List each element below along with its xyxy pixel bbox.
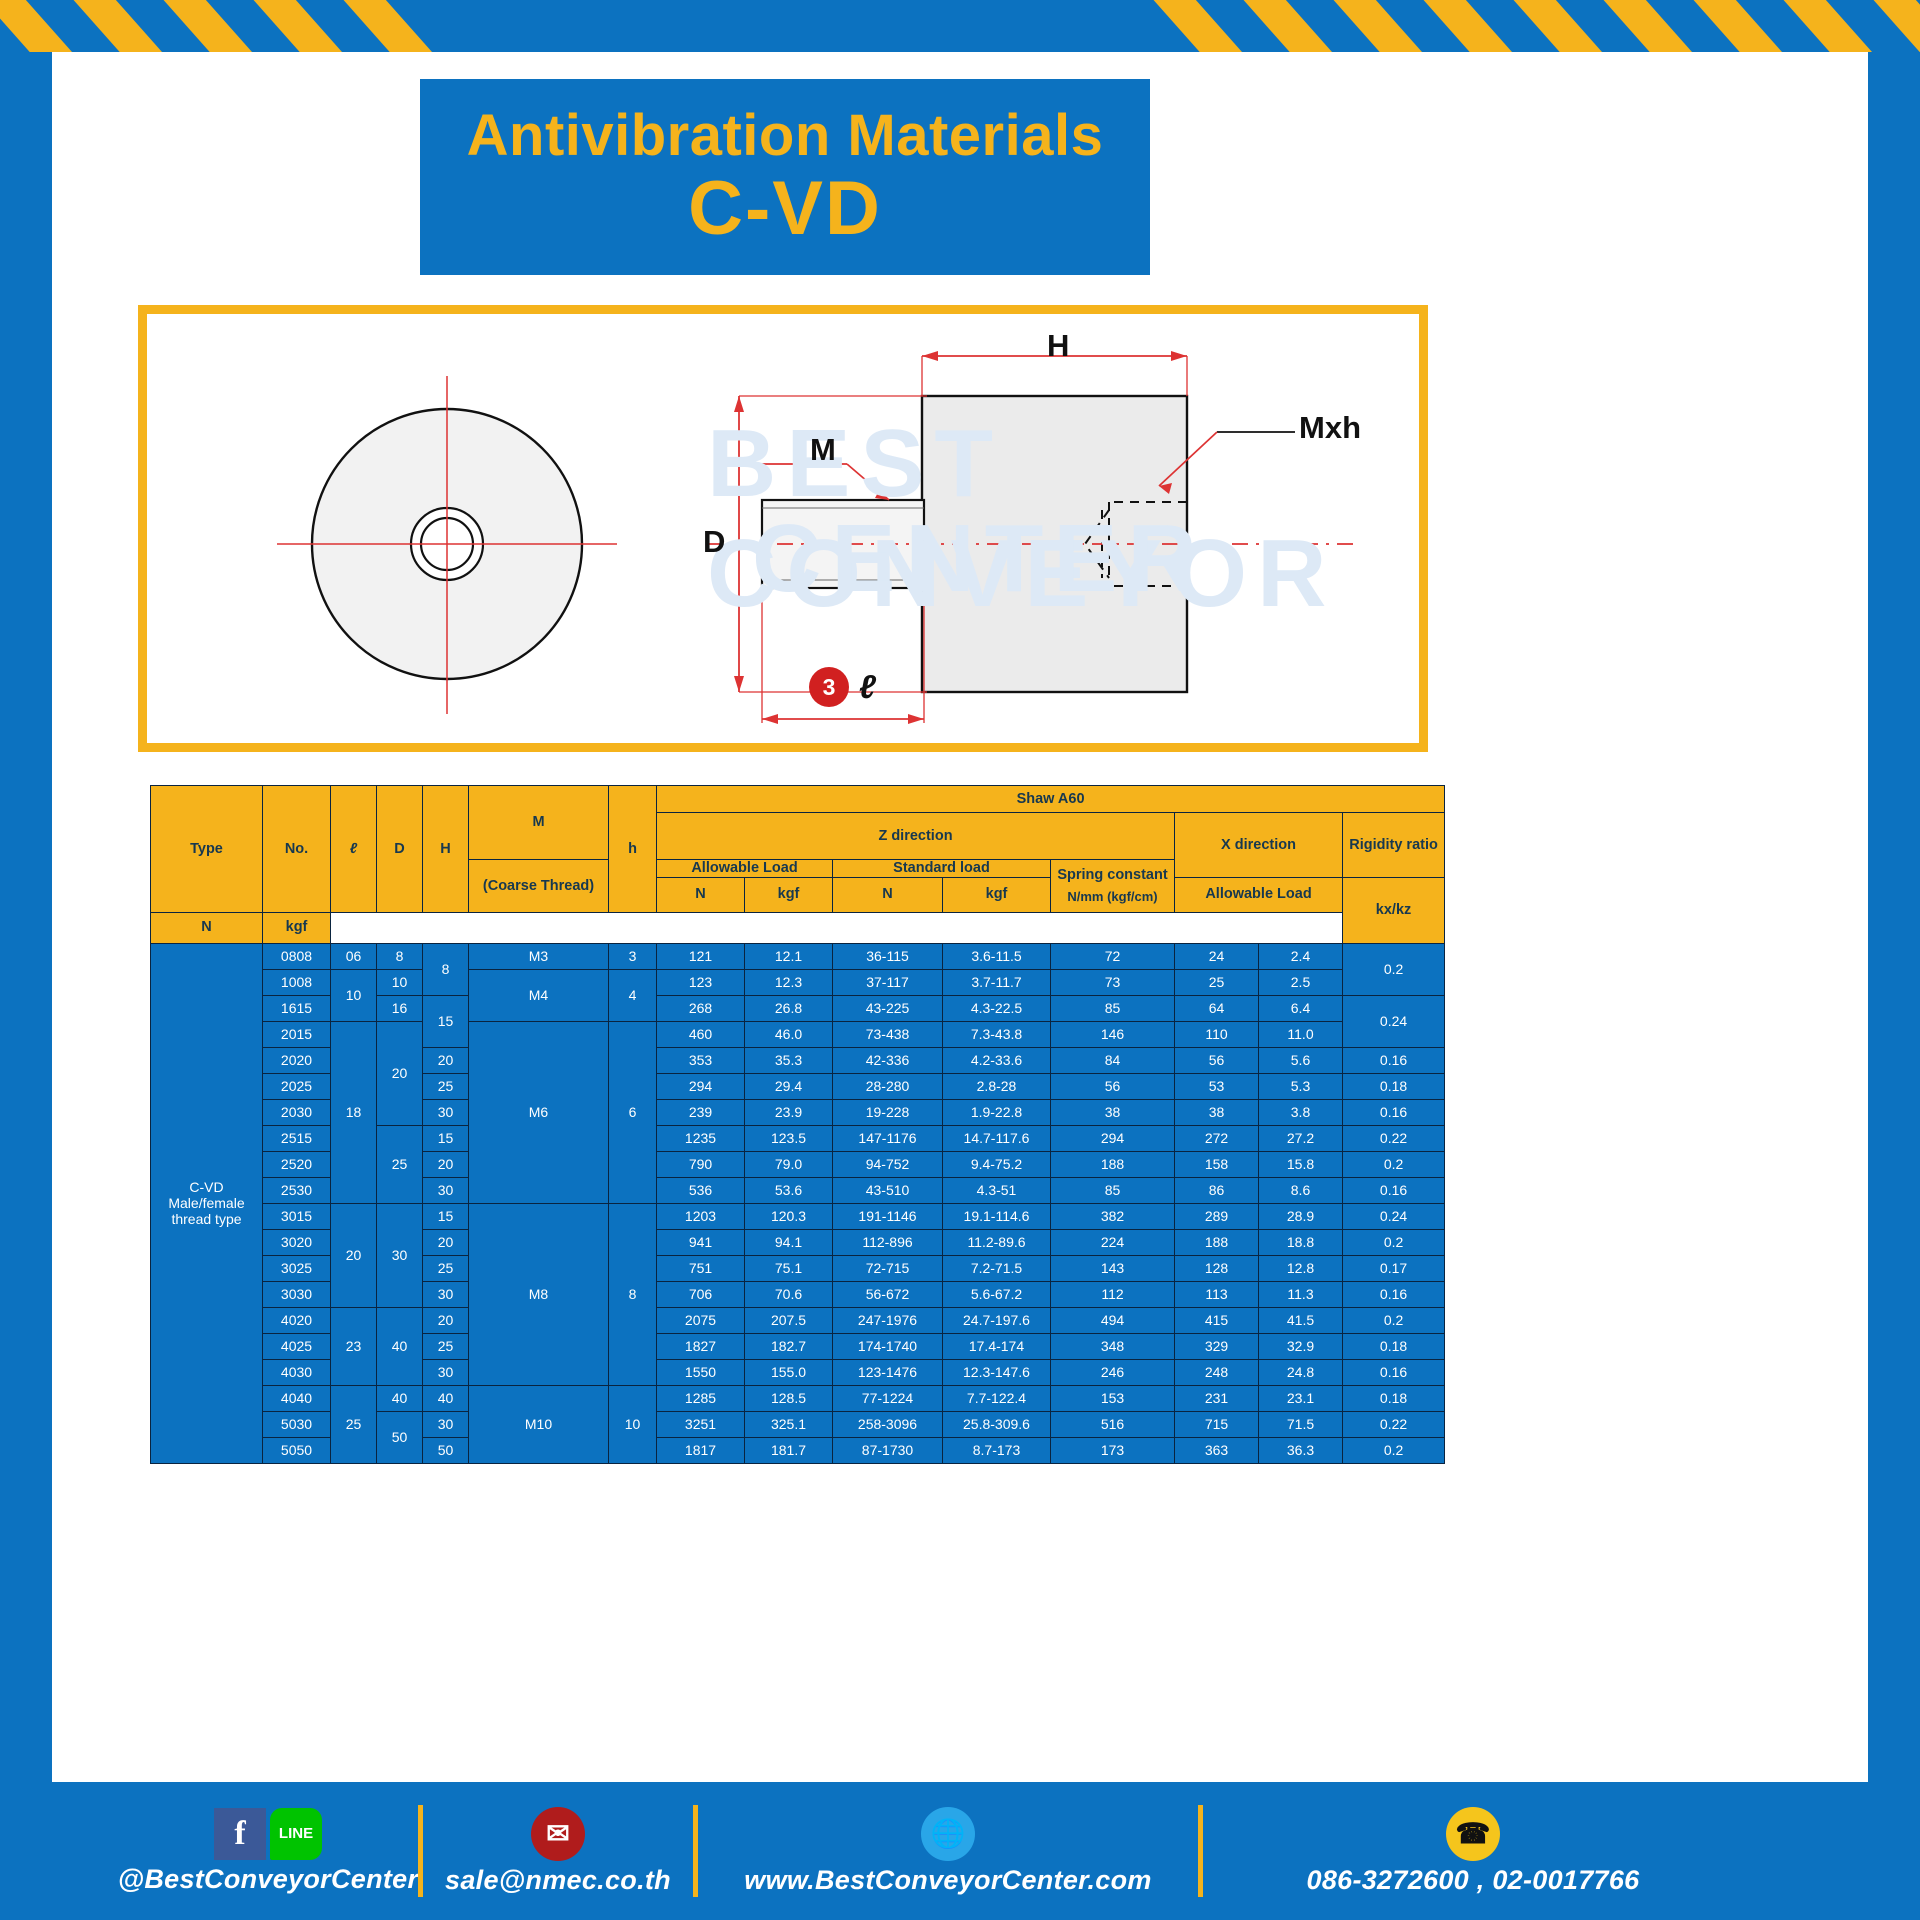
cell-spring-constant: 348 — [1051, 1333, 1175, 1359]
cell-z-allow-kgf: 120.3 — [745, 1203, 833, 1229]
cell-x-allow-kgf: 2.4 — [1259, 943, 1343, 969]
th-x-allowable-load: Allowable Load — [1175, 877, 1343, 912]
th-spring-unit: N/mm (kgf/cm) — [1051, 890, 1174, 905]
chevron-3 — [250, 0, 342, 52]
cell-H: 50 — [423, 1437, 469, 1463]
cell-H: 15 — [423, 995, 469, 1047]
cell-H: 25 — [423, 1333, 469, 1359]
cell-H: 20 — [423, 1047, 469, 1073]
cell-x-allow-N: 53 — [1175, 1073, 1259, 1099]
cell-M: M10 — [469, 1385, 609, 1463]
cell-spring-constant: 85 — [1051, 1177, 1175, 1203]
cell-spring-constant: 224 — [1051, 1229, 1175, 1255]
cell-H: 30 — [423, 1281, 469, 1307]
th-type: Type — [151, 786, 263, 913]
cell-no: 3030 — [263, 1281, 331, 1307]
cell-x-allow-kgf: 27.2 — [1259, 1125, 1343, 1151]
cell-no: 4040 — [263, 1385, 331, 1411]
th-shaw-a60: Shaw A60 — [657, 786, 1445, 813]
cell-z-std-kgf: 17.4-174 — [943, 1333, 1051, 1359]
th-H: H — [423, 786, 469, 913]
cell-x-allow-N: 64 — [1175, 995, 1259, 1021]
cell-H: 30 — [423, 1099, 469, 1125]
header-row-5: N kgf — [151, 912, 1445, 943]
cell-no: 3025 — [263, 1255, 331, 1281]
cell-z-std-N: 42-336 — [833, 1047, 943, 1073]
table-row: 10081010M4412312.337-1173.7-11.773252.5 — [151, 969, 1445, 995]
cell-x-allow-kgf: 32.9 — [1259, 1333, 1343, 1359]
chevron-6 — [1240, 0, 1332, 52]
globe-icon[interactable]: 🌐 — [921, 1807, 975, 1861]
line-icon[interactable]: LINE — [270, 1808, 322, 1860]
th-x-N: N — [151, 912, 263, 943]
cell-z-allow-N: 353 — [657, 1047, 745, 1073]
th-rigidity-ratio: Rigidity ratio — [1343, 813, 1445, 878]
cell-x-allow-N: 113 — [1175, 1281, 1259, 1307]
cell-M: M6 — [469, 1021, 609, 1203]
cell-rigidity-ratio: 0.16 — [1343, 1099, 1445, 1125]
cell-h: 6 — [609, 1021, 657, 1203]
cell-z-std-kgf: 25.8-309.6 — [943, 1411, 1051, 1437]
cell-spring-constant: 84 — [1051, 1047, 1175, 1073]
th-x-kgf: kgf — [263, 912, 331, 943]
cell-spring-constant: 143 — [1051, 1255, 1175, 1281]
cell-l: 06 — [331, 943, 377, 969]
cell-no: 2025 — [263, 1073, 331, 1099]
cell-x-allow-N: 56 — [1175, 1047, 1259, 1073]
cell-H: 20 — [423, 1151, 469, 1177]
cell-no: 0808 — [263, 943, 331, 969]
cell-z-std-kgf: 4.3-22.5 — [943, 995, 1051, 1021]
cell-D: 25 — [377, 1125, 423, 1203]
cell-z-allow-N: 3251 — [657, 1411, 745, 1437]
cell-z-std-kgf: 19.1-114.6 — [943, 1203, 1051, 1229]
dim-arrow-H-right — [1171, 351, 1187, 361]
cell-x-allow-kgf: 36.3 — [1259, 1437, 1343, 1463]
cell-z-std-N: 28-280 — [833, 1073, 943, 1099]
chevron-10 — [1600, 0, 1692, 52]
table-row: 40202340202075207.5247-197624.7-197.6494… — [151, 1307, 1445, 1333]
cell-z-std-N: 43-225 — [833, 995, 943, 1021]
cell-z-allow-kgf: 79.0 — [745, 1151, 833, 1177]
cell-rigidity-ratio: 0.18 — [1343, 1333, 1445, 1359]
cell-z-std-N: 258-3096 — [833, 1411, 943, 1437]
cell-z-std-kgf: 14.7-117.6 — [943, 1125, 1051, 1151]
cell-D: 20 — [377, 1021, 423, 1125]
dim-arrow-H-left — [922, 351, 938, 361]
cell-spring-constant: 153 — [1051, 1385, 1175, 1411]
type-line: thread type — [151, 1211, 262, 1227]
cell-no: 2530 — [263, 1177, 331, 1203]
chevron-4 — [340, 0, 432, 52]
cell-x-allow-kgf: 28.9 — [1259, 1203, 1343, 1229]
th-x-direction: X direction — [1175, 813, 1343, 878]
spec-table-head: Type No. ℓ D H M h Shaw A60 Z direction … — [151, 786, 1445, 944]
cell-z-std-N: 191-1146 — [833, 1203, 943, 1229]
cell-z-std-kgf: 9.4-75.2 — [943, 1151, 1051, 1177]
cell-l: 10 — [331, 969, 377, 1021]
cell-spring-constant: 173 — [1051, 1437, 1175, 1463]
cell-spring-constant: 382 — [1051, 1203, 1175, 1229]
cell-z-allow-N: 123 — [657, 969, 745, 995]
cell-no: 2520 — [263, 1151, 331, 1177]
cell-z-std-kgf: 1.9-22.8 — [943, 1099, 1051, 1125]
th-z-std-N: N — [833, 877, 943, 912]
cell-z-allow-kgf: 181.7 — [745, 1437, 833, 1463]
cell-rigidity-ratio: 0.22 — [1343, 1125, 1445, 1151]
top-chevron-band — [0, 0, 1920, 52]
cell-z-std-N: 73-438 — [833, 1021, 943, 1047]
cell-z-std-kgf: 24.7-197.6 — [943, 1307, 1051, 1333]
label-D: D — [703, 524, 725, 560]
cell-H: 25 — [423, 1255, 469, 1281]
cell-rigidity-ratio: 0.16 — [1343, 1359, 1445, 1385]
cell-z-std-N: 123-1476 — [833, 1359, 943, 1385]
table-row: C-VDMale/femalethread type08080688M33121… — [151, 943, 1445, 969]
cell-D: 10 — [377, 969, 423, 995]
cell-z-std-kgf: 12.3-147.6 — [943, 1359, 1051, 1385]
cell-l: 20 — [331, 1203, 377, 1307]
cell-rigidity-ratio: 0.24 — [1343, 1203, 1445, 1229]
type-line: Male/female — [151, 1195, 262, 1211]
cell-spring-constant: 146 — [1051, 1021, 1175, 1047]
cell-x-allow-kgf: 15.8 — [1259, 1151, 1343, 1177]
cell-z-allow-kgf: 155.0 — [745, 1359, 833, 1385]
cell-x-allow-N: 363 — [1175, 1437, 1259, 1463]
cell-x-allow-kgf: 24.8 — [1259, 1359, 1343, 1385]
cell-z-allow-kgf: 123.5 — [745, 1125, 833, 1151]
cell-no: 4020 — [263, 1307, 331, 1333]
cell-x-allow-kgf: 3.8 — [1259, 1099, 1343, 1125]
cell-rigidity-ratio: 0.18 — [1343, 1385, 1445, 1411]
cell-z-std-N: 147-1176 — [833, 1125, 943, 1151]
cell-H: 15 — [423, 1203, 469, 1229]
cell-x-allow-kgf: 41.5 — [1259, 1307, 1343, 1333]
chevron-5 — [1150, 0, 1242, 52]
th-z-standard-load: Standard load — [833, 860, 1051, 878]
cell-z-allow-kgf: 94.1 — [745, 1229, 833, 1255]
cell-z-std-kgf: 11.2-89.6 — [943, 1229, 1051, 1255]
cell-z-allow-N: 294 — [657, 1073, 745, 1099]
cell-H: 30 — [423, 1177, 469, 1203]
cell-spring-constant: 294 — [1051, 1125, 1175, 1151]
cell-spring-constant: 72 — [1051, 943, 1175, 969]
th-m-coarse-thread: (Coarse Thread) — [469, 860, 609, 913]
cell-h: 3 — [609, 943, 657, 969]
cell-z-allow-kgf: 70.6 — [745, 1281, 833, 1307]
th-D: D — [377, 786, 423, 913]
cell-no: 2030 — [263, 1099, 331, 1125]
cell-h: 8 — [609, 1203, 657, 1385]
cell-z-allow-kgf: 46.0 — [745, 1021, 833, 1047]
th-z-std-kgf: kgf — [943, 877, 1051, 912]
footer-email-text: sale@nmec.co.th — [445, 1865, 671, 1896]
cell-rigidity-ratio: 0.16 — [1343, 1177, 1445, 1203]
table-row: 3015203015M881203120.3191-114619.1-114.6… — [151, 1203, 1445, 1229]
cell-x-allow-N: 158 — [1175, 1151, 1259, 1177]
cell-x-allow-kgf: 11.0 — [1259, 1021, 1343, 1047]
cell-z-allow-N: 706 — [657, 1281, 745, 1307]
page-subtitle: C-VD — [688, 169, 882, 249]
cell-rigidity-ratio: 0.17 — [1343, 1255, 1445, 1281]
cell-x-allow-N: 188 — [1175, 1229, 1259, 1255]
cell-z-std-N: 56-672 — [833, 1281, 943, 1307]
facebook-icon[interactable]: f — [214, 1808, 266, 1860]
table-row: 20151820M6646046.073-4387.3-43.814611011… — [151, 1021, 1445, 1047]
chevron-2 — [160, 0, 252, 52]
cell-D: 8 — [377, 943, 423, 969]
cell-z-std-N: 87-1730 — [833, 1437, 943, 1463]
cell-z-std-N: 174-1740 — [833, 1333, 943, 1359]
cell-z-allow-N: 239 — [657, 1099, 745, 1125]
type-line: C-VD — [151, 1179, 262, 1195]
cell-z-allow-kgf: 35.3 — [745, 1047, 833, 1073]
cell-z-allow-N: 1827 — [657, 1333, 745, 1359]
footer-email[interactable]: ✉ sale@nmec.co.th — [423, 1807, 693, 1896]
email-icon[interactable]: ✉ — [531, 1807, 585, 1861]
cell-rigidity-ratio: 0.16 — [1343, 1047, 1445, 1073]
cell-z-allow-kgf: 53.6 — [745, 1177, 833, 1203]
footer-website-text: www.BestConveyorCenter.com — [744, 1865, 1151, 1896]
cell-type: C-VDMale/femalethread type — [151, 943, 263, 1463]
cell-no: 3020 — [263, 1229, 331, 1255]
cell-x-allow-kgf: 18.8 — [1259, 1229, 1343, 1255]
dim-arrow-l-right — [908, 714, 924, 724]
social-icons: f LINE — [214, 1808, 322, 1860]
cell-rigidity-ratio: 0.2 — [1343, 1229, 1445, 1255]
cell-D: 16 — [377, 995, 423, 1021]
cell-z-std-kgf: 5.6-67.2 — [943, 1281, 1051, 1307]
cell-spring-constant: 85 — [1051, 995, 1175, 1021]
cell-x-allow-kgf: 2.5 — [1259, 969, 1343, 995]
cell-H: 20 — [423, 1229, 469, 1255]
title-block: Antivibration Materials C-VD — [420, 79, 1150, 275]
cell-z-std-N: 112-896 — [833, 1229, 943, 1255]
cell-z-std-kgf: 7.2-71.5 — [943, 1255, 1051, 1281]
cell-z-std-kgf: 7.3-43.8 — [943, 1021, 1051, 1047]
cell-z-allow-N: 536 — [657, 1177, 745, 1203]
cell-rigidity-ratio: 0.24 — [1343, 995, 1445, 1047]
cell-no: 5030 — [263, 1411, 331, 1437]
cell-l: 23 — [331, 1307, 377, 1385]
cell-z-allow-kgf: 29.4 — [745, 1073, 833, 1099]
cell-x-allow-kgf: 5.3 — [1259, 1073, 1343, 1099]
cell-rigidity-ratio: 0.2 — [1343, 1307, 1445, 1333]
th-z-allow-N: N — [657, 877, 745, 912]
th-spring-constant-group: Spring constant N/mm (kgf/cm) — [1051, 860, 1175, 913]
cell-z-allow-N: 941 — [657, 1229, 745, 1255]
cell-z-std-N: 77-1224 — [833, 1385, 943, 1411]
cell-x-allow-N: 110 — [1175, 1021, 1259, 1047]
cell-h: 4 — [609, 969, 657, 1021]
cell-spring-constant: 73 — [1051, 969, 1175, 995]
technical-drawing-frame: BEST CONVEYOR CENTER — [138, 305, 1428, 752]
cell-spring-constant: 38 — [1051, 1099, 1175, 1125]
cell-spring-constant: 188 — [1051, 1151, 1175, 1177]
label-l: ℓ — [859, 668, 876, 706]
cell-z-allow-kgf: 128.5 — [745, 1385, 833, 1411]
cell-z-allow-kgf: 325.1 — [745, 1411, 833, 1437]
cell-no: 1008 — [263, 969, 331, 995]
spec-table-body: C-VDMale/femalethread type08080688M33121… — [151, 943, 1445, 1463]
cell-M: M3 — [469, 943, 609, 969]
th-no: No. — [263, 786, 331, 913]
spec-table: Type No. ℓ D H M h Shaw A60 Z direction … — [150, 785, 1445, 1464]
footer-social-handle: @BestConveyorCenter — [118, 1864, 419, 1895]
cell-z-std-kgf: 3.7-11.7 — [943, 969, 1051, 995]
cell-H: 20 — [423, 1307, 469, 1333]
watermark-line-2: CENTER — [752, 504, 1207, 614]
cell-z-std-N: 247-1976 — [833, 1307, 943, 1333]
cell-D: 40 — [377, 1307, 423, 1385]
cell-z-std-kgf: 7.7-122.4 — [943, 1385, 1051, 1411]
cell-spring-constant: 112 — [1051, 1281, 1175, 1307]
cell-H: 30 — [423, 1359, 469, 1385]
technical-drawing: BEST CONVEYOR CENTER — [147, 314, 1419, 743]
footer-bar: f LINE @BestConveyorCenter ✉ sale@nmec.c… — [0, 1782, 1920, 1920]
footer-website[interactable]: 🌐 www.BestConveyorCenter.com — [698, 1807, 1198, 1896]
footer-phone[interactable]: ☎ 086-3272600 , 02-0017766 — [1203, 1807, 1743, 1896]
cell-x-allow-N: 231 — [1175, 1385, 1259, 1411]
th-z-direction: Z direction — [657, 813, 1175, 860]
cell-rigidity-ratio: 0.2 — [1343, 1437, 1445, 1463]
page-title: Antivibration Materials — [467, 106, 1104, 167]
label-Mxh: Mxh — [1299, 410, 1361, 446]
cell-z-std-N: 72-715 — [833, 1255, 943, 1281]
cell-z-std-kgf: 4.3-51 — [943, 1177, 1051, 1203]
cell-spring-constant: 246 — [1051, 1359, 1175, 1385]
chevron-0 — [0, 0, 72, 52]
dim-arrow-l-left — [762, 714, 778, 724]
cell-x-allow-N: 415 — [1175, 1307, 1259, 1333]
cell-H: 40 — [423, 1385, 469, 1411]
chevron-8 — [1420, 0, 1512, 52]
cell-z-allow-N: 1817 — [657, 1437, 745, 1463]
chevron-9 — [1510, 0, 1602, 52]
cell-D: 40 — [377, 1385, 423, 1411]
cell-spring-constant: 516 — [1051, 1411, 1175, 1437]
cell-no: 3015 — [263, 1203, 331, 1229]
cell-x-allow-N: 272 — [1175, 1125, 1259, 1151]
th-z-allow-kgf: kgf — [745, 877, 833, 912]
th-l: ℓ — [331, 786, 377, 913]
cell-rigidity-ratio: 0.16 — [1343, 1281, 1445, 1307]
header-row-1: Type No. ℓ D H M h Shaw A60 — [151, 786, 1445, 813]
footer-social[interactable]: f LINE @BestConveyorCenter — [118, 1808, 418, 1895]
dim-arrow-D-bottom — [734, 676, 744, 692]
cell-z-std-N: 43-510 — [833, 1177, 943, 1203]
cell-D: 30 — [377, 1203, 423, 1307]
cell-H: 15 — [423, 1125, 469, 1151]
th-h: h — [609, 786, 657, 913]
cell-x-allow-kgf: 6.4 — [1259, 995, 1343, 1021]
cell-z-std-N: 37-117 — [833, 969, 943, 995]
chevron-11 — [1690, 0, 1782, 52]
cell-no: 2020 — [263, 1047, 331, 1073]
cell-D: 50 — [377, 1411, 423, 1463]
label-H: H — [1047, 328, 1069, 364]
cell-z-allow-N: 1235 — [657, 1125, 745, 1151]
cell-z-allow-kgf: 26.8 — [745, 995, 833, 1021]
cell-z-allow-kgf: 12.3 — [745, 969, 833, 995]
cell-H: 8 — [423, 943, 469, 995]
phone-icon[interactable]: ☎ — [1446, 1807, 1500, 1861]
cell-z-allow-kgf: 12.1 — [745, 943, 833, 969]
cell-z-allow-N: 1550 — [657, 1359, 745, 1385]
cell-z-std-kgf: 2.8-28 — [943, 1073, 1051, 1099]
th-M: M — [469, 786, 609, 860]
cell-spring-constant: 56 — [1051, 1073, 1175, 1099]
cell-rigidity-ratio: 0.2 — [1343, 1151, 1445, 1177]
cell-z-allow-kgf: 75.1 — [745, 1255, 833, 1281]
th-spring-constant: Spring constant — [1051, 867, 1174, 884]
cell-z-allow-kgf: 182.7 — [745, 1333, 833, 1359]
cell-z-allow-N: 790 — [657, 1151, 745, 1177]
cell-x-allow-N: 715 — [1175, 1411, 1259, 1437]
cell-x-allow-kgf: 8.6 — [1259, 1177, 1343, 1203]
cell-H: 30 — [423, 1411, 469, 1437]
cell-z-std-N: 94-752 — [833, 1151, 943, 1177]
cell-z-std-kgf: 3.6-11.5 — [943, 943, 1051, 969]
cell-z-std-N: 36-115 — [833, 943, 943, 969]
footer-phone-text: 086-3272600 , 02-0017766 — [1307, 1865, 1640, 1896]
cell-z-allow-N: 121 — [657, 943, 745, 969]
cell-x-allow-N: 329 — [1175, 1333, 1259, 1359]
cell-M: M8 — [469, 1203, 609, 1385]
cell-no: 5050 — [263, 1437, 331, 1463]
cell-l: 25 — [331, 1385, 377, 1463]
cell-z-allow-N: 1203 — [657, 1203, 745, 1229]
cell-z-std-N: 19-228 — [833, 1099, 943, 1125]
cell-x-allow-kgf: 12.8 — [1259, 1255, 1343, 1281]
cell-M: M4 — [469, 969, 609, 1021]
cell-x-allow-N: 289 — [1175, 1203, 1259, 1229]
cell-no: 1615 — [263, 995, 331, 1021]
cell-no: 2015 — [263, 1021, 331, 1047]
cell-z-allow-N: 751 — [657, 1255, 745, 1281]
cell-x-allow-N: 24 — [1175, 943, 1259, 969]
cell-H: 25 — [423, 1073, 469, 1099]
cell-h: 10 — [609, 1385, 657, 1463]
cell-l: 18 — [331, 1021, 377, 1203]
chevron-7 — [1330, 0, 1422, 52]
cell-rigidity-ratio: 0.2 — [1343, 943, 1445, 995]
cell-x-allow-N: 38 — [1175, 1099, 1259, 1125]
cell-no: 4025 — [263, 1333, 331, 1359]
chevron-1 — [70, 0, 162, 52]
cell-z-allow-N: 1285 — [657, 1385, 745, 1411]
chevron-12 — [1780, 0, 1872, 52]
cell-no: 2515 — [263, 1125, 331, 1151]
cell-z-allow-kgf: 207.5 — [745, 1307, 833, 1333]
cell-z-allow-N: 268 — [657, 995, 745, 1021]
cell-x-allow-kgf: 5.6 — [1259, 1047, 1343, 1073]
chevron-13 — [1870, 0, 1920, 52]
cell-x-allow-N: 248 — [1175, 1359, 1259, 1385]
cell-x-allow-kgf: 11.3 — [1259, 1281, 1343, 1307]
cell-rigidity-ratio: 0.18 — [1343, 1073, 1445, 1099]
cell-no: 4030 — [263, 1359, 331, 1385]
cell-x-allow-kgf: 23.1 — [1259, 1385, 1343, 1411]
cell-z-allow-kgf: 23.9 — [745, 1099, 833, 1125]
cell-z-std-kgf: 4.2-33.6 — [943, 1047, 1051, 1073]
th-z-allowable-load: Allowable Load — [657, 860, 833, 878]
cell-z-allow-N: 2075 — [657, 1307, 745, 1333]
cell-z-allow-N: 460 — [657, 1021, 745, 1047]
cell-spring-constant: 494 — [1051, 1307, 1175, 1333]
table-row: 4040254040M10101285128.577-12247.7-122.4… — [151, 1385, 1445, 1411]
cell-x-allow-N: 128 — [1175, 1255, 1259, 1281]
